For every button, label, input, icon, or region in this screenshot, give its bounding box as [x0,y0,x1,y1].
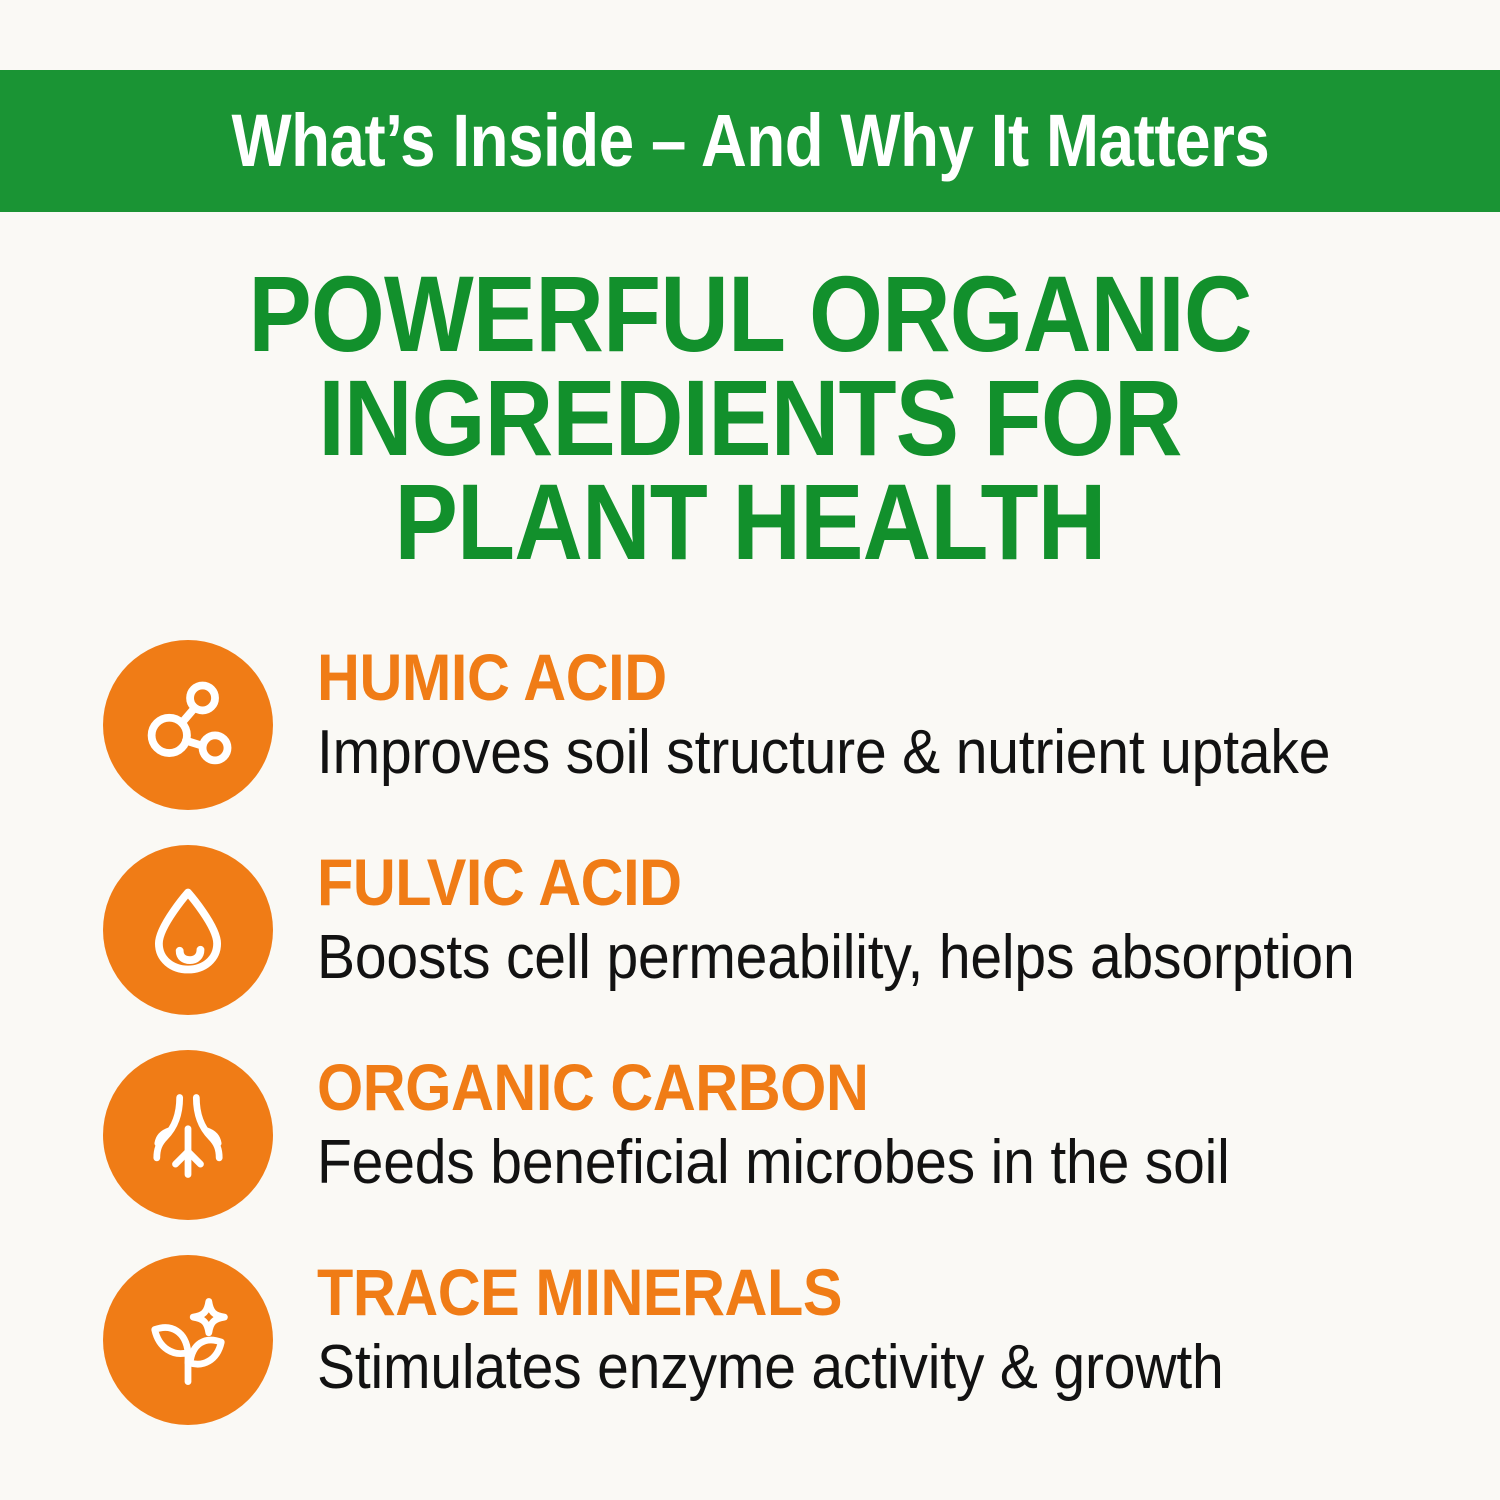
ingredient-icon-badge [103,1255,273,1425]
ingredient-text: FULVIC ACID Boosts cell permeability, he… [317,847,1447,993]
list-item: HUMIC ACID Improves soil structure & nut… [0,640,1500,845]
water-droplet-icon [136,878,240,982]
ingredient-icon-badge [103,845,273,1015]
header-banner: What’s Inside – And Why It Matters [0,70,1500,212]
ingredient-title: FULVIC ACID [317,847,1334,917]
ingredient-icon-badge [103,1050,273,1220]
ingredient-description: Feeds beneficial microbes in the soil [317,1128,1357,1198]
ingredient-text: TRACE MINERALS Stimulates enzyme activit… [317,1257,1447,1403]
ingredient-title: ORGANIC CARBON [317,1052,1334,1122]
ingredient-description: Boosts cell permeability, helps absorpti… [317,923,1357,993]
list-item: ORGANIC CARBON Feeds beneficial microbes… [0,1050,1500,1255]
banner-title: What’s Inside – And Why It Matters [231,104,1269,178]
ingredient-title: TRACE MINERALS [317,1257,1334,1327]
ingredient-text: ORGANIC CARBON Feeds beneficial microbes… [317,1052,1447,1198]
list-item: TRACE MINERALS Stimulates enzyme activit… [0,1255,1500,1460]
ingredient-description: Improves soil structure & nutrient uptak… [317,718,1357,788]
headline-line-3: PLANT HEALTH [90,470,1410,574]
headline-line-1: POWERFUL ORGANIC [90,262,1410,366]
ingredient-text: HUMIC ACID Improves soil structure & nut… [317,642,1447,788]
infographic-page: What’s Inside – And Why It Matters POWER… [0,0,1500,1500]
ingredient-title: HUMIC ACID [317,642,1334,712]
molecule-icon [136,673,240,777]
ingredient-icon-badge [103,640,273,810]
list-item: FULVIC ACID Boosts cell permeability, he… [0,845,1500,1050]
ingredient-description: Stimulates enzyme activity & growth [317,1333,1357,1403]
headline-line-2: INGREDIENTS FOR [90,366,1410,470]
root-system-icon [136,1083,240,1187]
ingredient-list: HUMIC ACID Improves soil structure & nut… [0,640,1500,1460]
page-title: POWERFUL ORGANIC INGREDIENTS FOR PLANT H… [0,262,1500,574]
sprout-sparkle-icon [136,1288,240,1392]
